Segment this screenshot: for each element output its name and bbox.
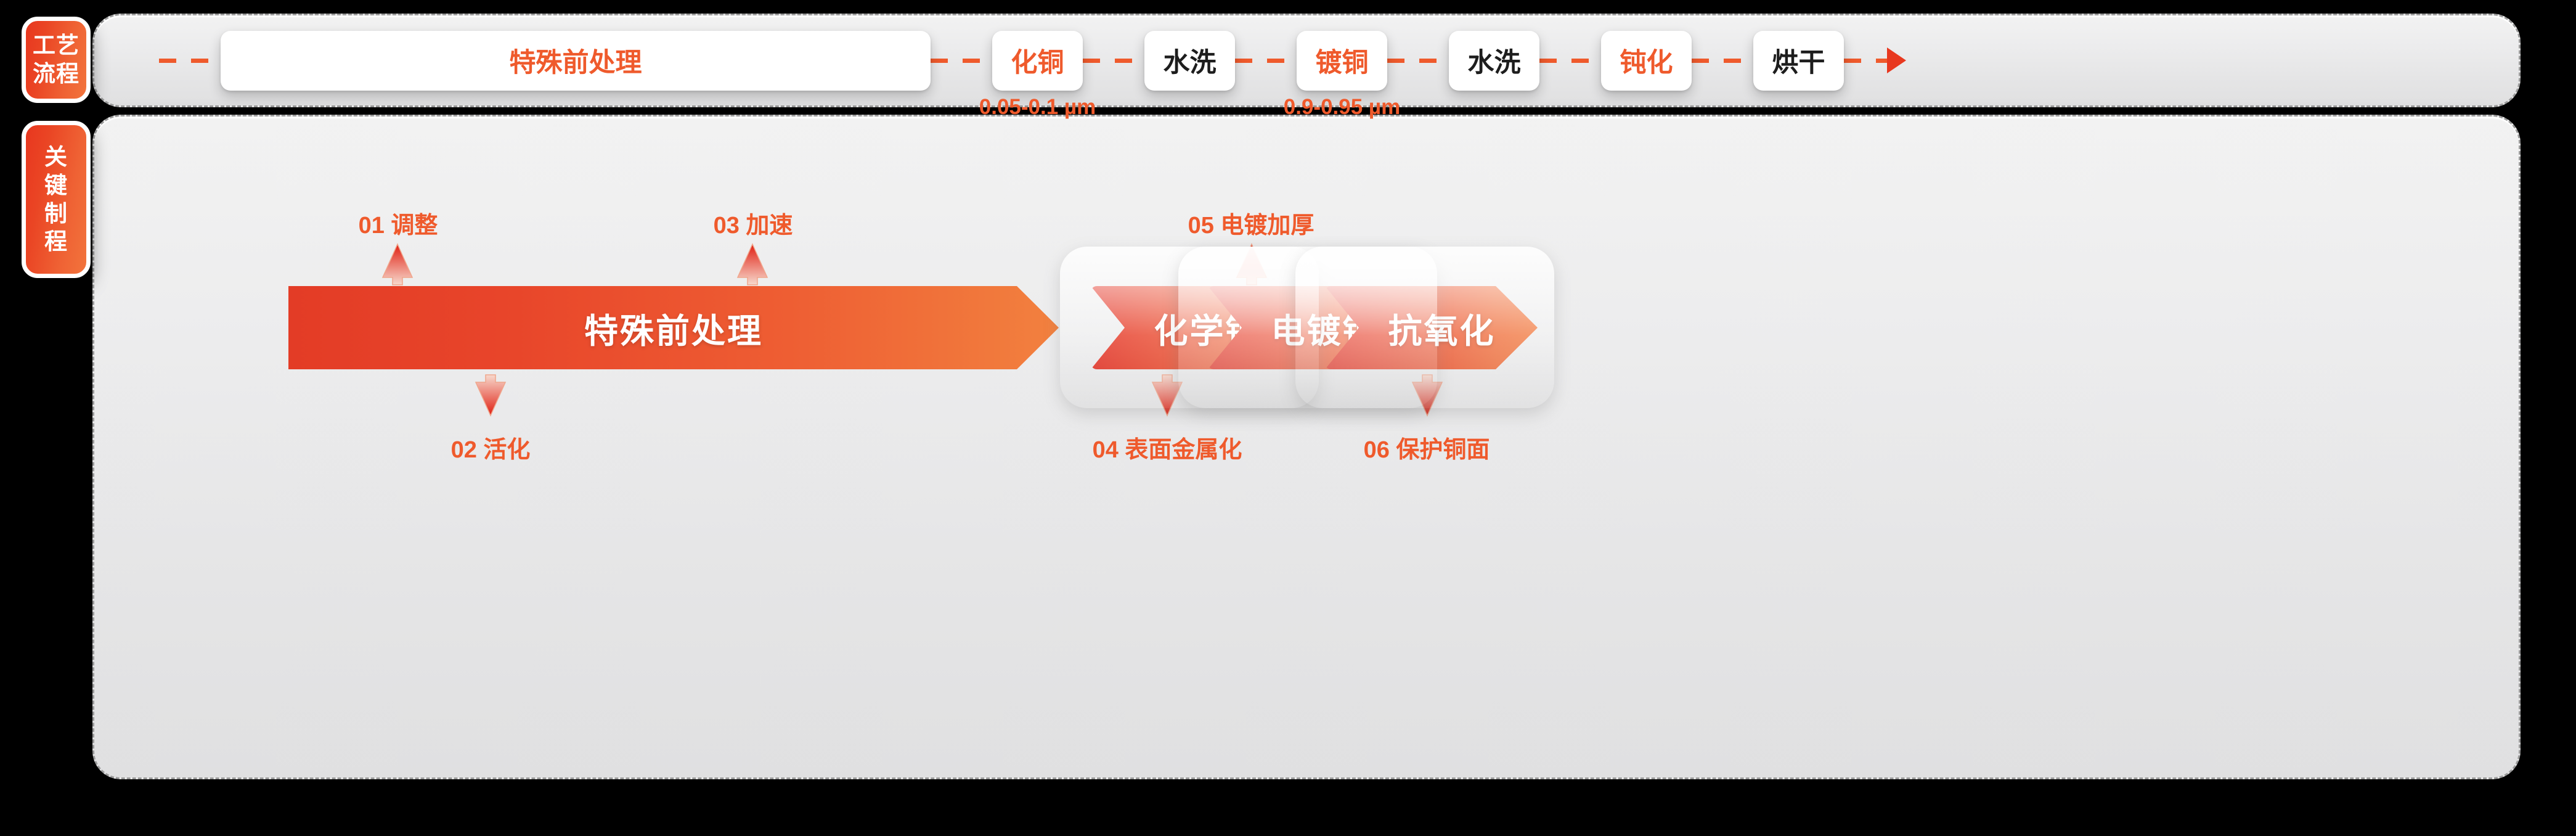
connector-dash-6 [1692, 59, 1753, 63]
sidebar-label-line: 流程 [33, 60, 79, 88]
flow-card-0[interactable]: 特殊前处理 [221, 31, 931, 91]
flow-card-label: 钝化 [1620, 41, 1673, 80]
step-caption-03: 03 加速 [714, 206, 793, 240]
sidebar-label-line: 程 [44, 227, 68, 256]
flow-card-1[interactable]: 化铜 0.05-0.1 µm [992, 31, 1083, 91]
flow-arrow-end-icon [1887, 47, 1906, 73]
chevron-halo-3 [1295, 247, 1554, 408]
step-caption-01: 01 调整 [359, 206, 438, 240]
connector-dash-3 [1235, 59, 1297, 63]
connector-dash-7 [1844, 59, 1888, 63]
flow-card-4[interactable]: 水洗 [1449, 31, 1539, 91]
key-process-band: 特殊前处理 化学铜 电镀铜 抗氧化 [92, 115, 2521, 779]
flow-card-5[interactable]: 钝化 [1601, 31, 1692, 91]
step-caption-02: 02 活化 [451, 430, 531, 464]
sidebar-label-line: 制 [44, 200, 68, 228]
step-caption-06: 06 保护铜面 [1364, 430, 1490, 464]
flow-card-3[interactable]: 镀铜 0.9-0.95 µm [1297, 31, 1387, 91]
sidebar-label-line: 键 [44, 171, 68, 200]
flow-card-label: 特殊前处理 [510, 41, 642, 80]
sidebar-label-process-flow[interactable]: 工艺 流程 [22, 17, 91, 103]
up-arrow-icon-03 [736, 243, 768, 286]
connector-dash-5 [1539, 59, 1601, 63]
flow-card-2[interactable]: 水洗 [1144, 31, 1235, 91]
flow-card-label: 水洗 [1468, 41, 1521, 80]
stage-arrow-pretreatment[interactable]: 特殊前处理 [288, 286, 1059, 369]
stage-label: 特殊前处理 [584, 303, 763, 353]
sidebar-label-key-process[interactable]: 关 键 制 程 [22, 121, 91, 278]
up-arrow-icon-01 [381, 243, 414, 286]
step-caption-04: 04 表面金属化 [1093, 430, 1242, 464]
flow-card-label: 化铜 [1011, 41, 1064, 80]
process-flow-row: 特殊前处理 化铜 0.05-0.1 µm 水洗 镀铜 0.9-0.95 µm 水… [92, 14, 2521, 107]
down-arrow-icon-02 [475, 374, 507, 417]
flow-left-spacer [92, 60, 159, 61]
sidebar-label-line: 工艺 [33, 31, 79, 60]
connector-dash-2 [1083, 59, 1144, 63]
connector-dash-1 [931, 59, 992, 63]
connector-dash-0 [159, 59, 221, 63]
sidebar-label-line: 关 [44, 143, 68, 171]
diagram-root: 特殊前处理 化铜 0.05-0.1 µm 水洗 镀铜 0.9-0.95 µm 水… [0, 0, 2576, 836]
flow-card-label: 水洗 [1164, 41, 1217, 80]
flow-card-label: 镀铜 [1316, 41, 1369, 80]
connector-dash-4 [1387, 59, 1449, 63]
flow-card-6[interactable]: 烘干 [1753, 31, 1844, 91]
step-caption-05: 05 电镀加厚 [1188, 206, 1314, 240]
flow-card-label: 烘干 [1772, 41, 1825, 80]
